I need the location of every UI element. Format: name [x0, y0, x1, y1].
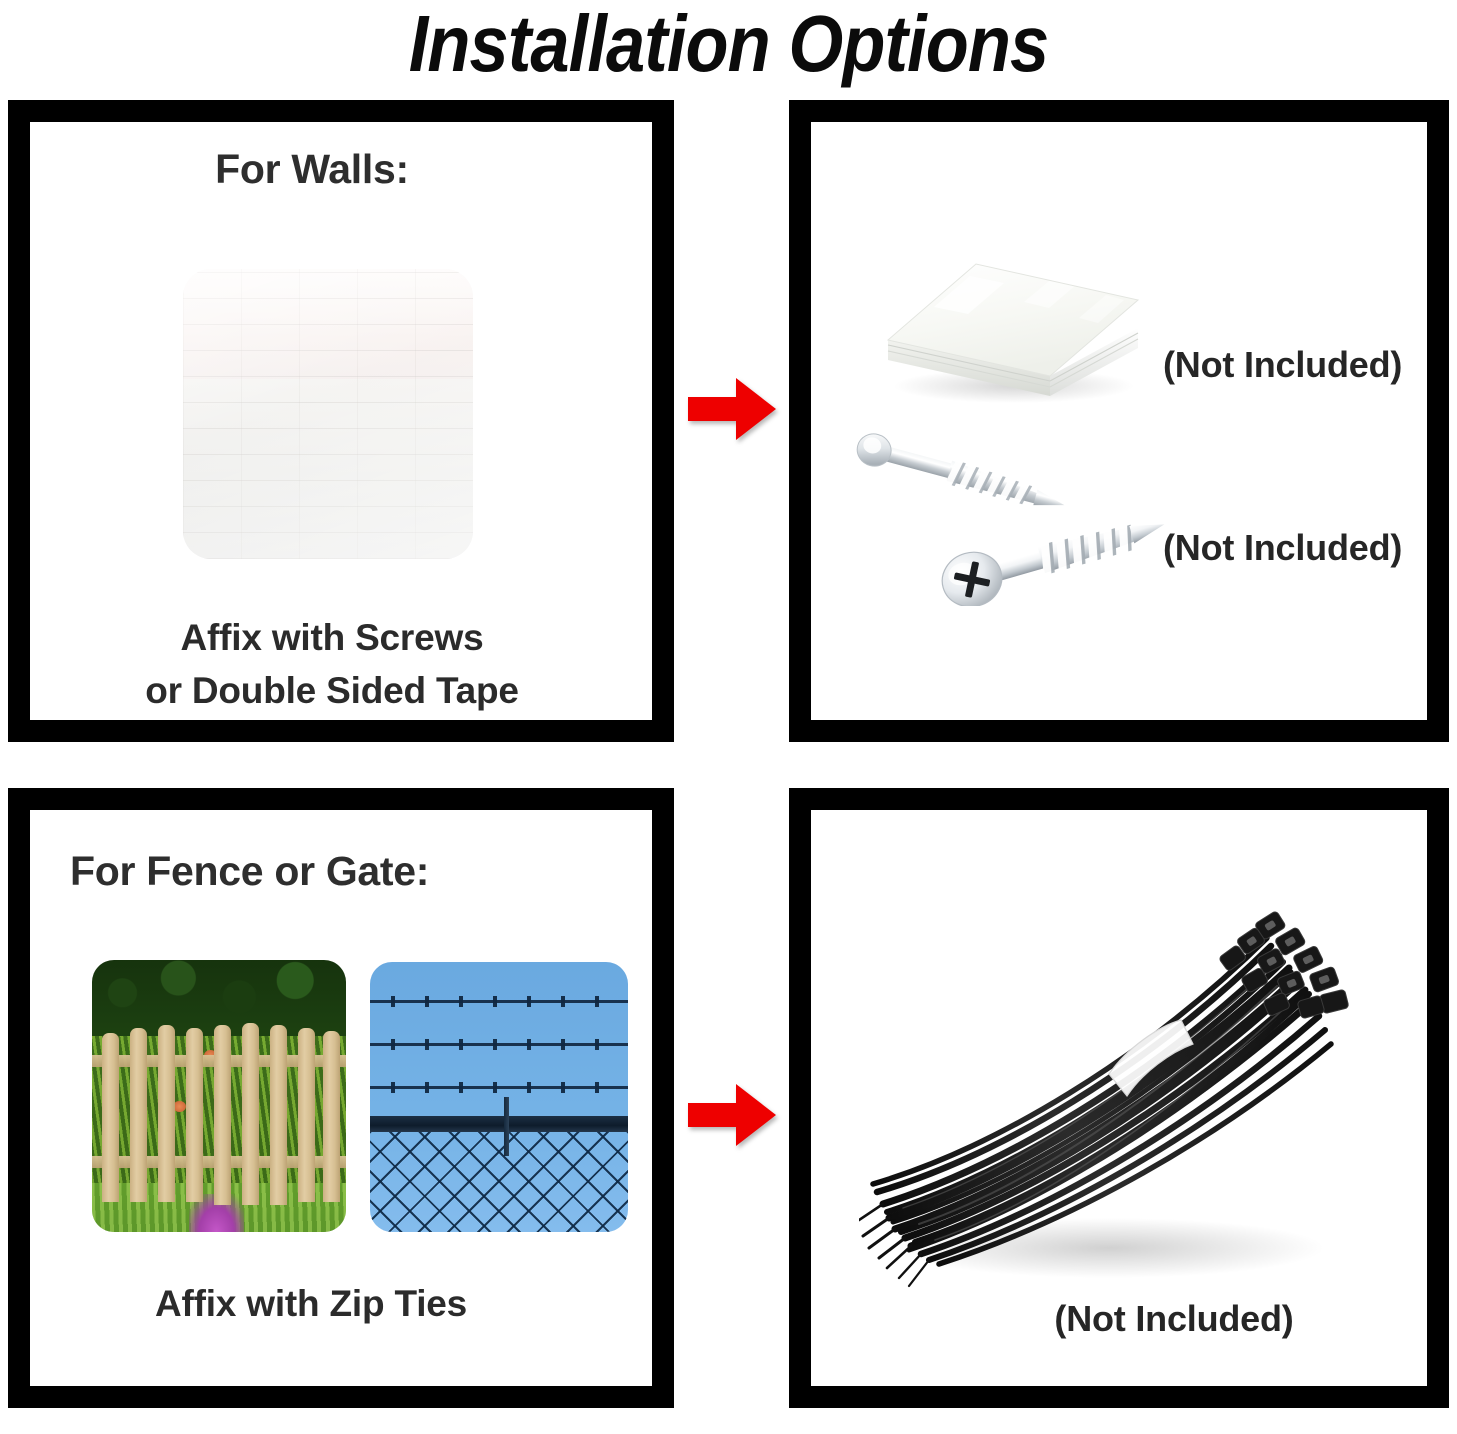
chain-link-fence-photo — [370, 962, 628, 1232]
panel-for-walls: For Walls: Affix with Screws or Double S… — [8, 100, 674, 742]
zip-ties-not-included-label: (Not Included) — [811, 1298, 1427, 1340]
wooden-picket-fence-photo — [92, 960, 346, 1232]
barbed-wire-strand — [370, 1086, 628, 1089]
fence-picket — [323, 1031, 340, 1202]
black-zip-ties-bundle — [859, 898, 1359, 1298]
barbed-wire-strand — [370, 1000, 628, 1003]
panel-for-fence-inner: For Fence or Gate: — [30, 810, 652, 1386]
caption-for-fence: Affix with Zip Ties — [30, 1278, 652, 1331]
screw-not-included-label: (Not Included) — [1163, 527, 1402, 569]
caption-line-2: or Double Sided Tape — [30, 665, 634, 718]
double-sided-tape-stack — [874, 244, 1148, 404]
fence-picket — [130, 1028, 147, 1202]
heading-for-walls: For Walls: — [30, 146, 652, 193]
red-arrow-icon — [688, 376, 776, 442]
chain-link-mesh — [370, 1132, 628, 1232]
heading-for-fence-or-gate: For Fence or Gate: — [70, 848, 429, 895]
page-title: Installation Options — [87, 0, 1369, 92]
fence-picket — [214, 1025, 231, 1205]
tape-not-included-label: (Not Included) — [1163, 344, 1402, 386]
panel-fence-fasteners: (Not Included) — [789, 788, 1449, 1408]
white-brick-wall-photo — [183, 269, 473, 559]
panel-wall-fasteners: (Not Included) — [789, 100, 1449, 742]
caption-for-walls: Affix with Screws or Double Sided Tape — [30, 612, 652, 717]
fence-picket — [102, 1033, 119, 1202]
caption-line-1: Affix with Screws — [30, 612, 634, 665]
brick-highlight — [183, 269, 473, 559]
fence-picket — [270, 1025, 287, 1205]
fence-picket — [298, 1028, 315, 1202]
fence-post — [504, 1097, 509, 1156]
panel-for-fence-or-gate: For Fence or Gate: — [8, 788, 674, 1408]
barbed-wire-strand — [370, 1043, 628, 1046]
fence-picket — [158, 1025, 175, 1202]
infographic-root: Installation Options For Walls: Affix wi… — [0, 0, 1457, 1434]
panel-for-walls-inner: For Walls: Affix with Screws or Double S… — [30, 122, 652, 720]
panel-fence-fasteners-inner: (Not Included) — [811, 810, 1427, 1386]
wood-screw-lower — [923, 510, 1171, 606]
red-arrow-icon — [688, 1082, 776, 1148]
panel-wall-fasteners-inner: (Not Included) — [811, 122, 1427, 720]
fence-picket — [186, 1028, 203, 1202]
fence-picket — [242, 1023, 259, 1205]
fence-top-rail — [370, 1116, 628, 1132]
wood-screw-upper — [841, 432, 1071, 514]
